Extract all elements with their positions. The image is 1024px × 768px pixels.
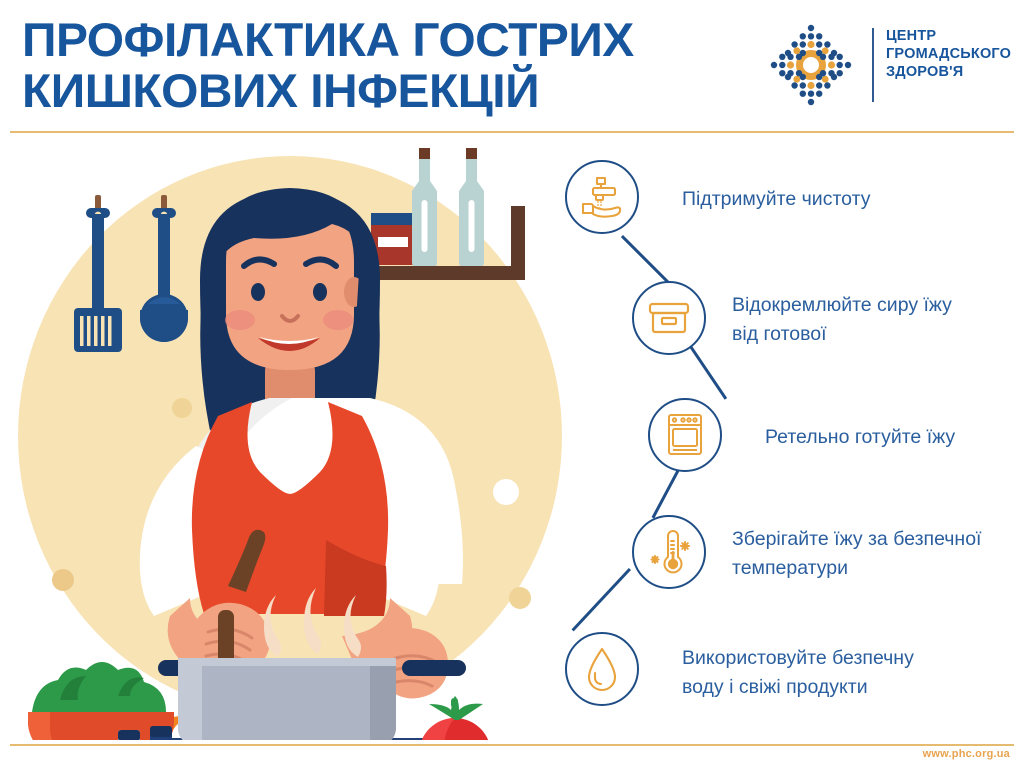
recommendation-label-4: Зберігайте їжу за безпечної температури bbox=[732, 525, 1024, 583]
header: ПРОФІЛАКТИКА ГОСТРИХ КИШКОВИХ ІНФЕКЦІЙ bbox=[0, 0, 1024, 130]
bottle bbox=[412, 148, 437, 267]
logo-divider bbox=[872, 28, 874, 102]
stove-oven-icon bbox=[648, 398, 722, 472]
tomato bbox=[419, 696, 491, 740]
thermometer-icon bbox=[632, 515, 706, 589]
radial-dot-sun-logo-icon bbox=[768, 22, 854, 108]
page-title-line-1: ПРОФІЛАКТИКА ГОСТРИХ bbox=[22, 14, 756, 65]
kitchen-illustration bbox=[0, 140, 580, 740]
connector-4-5 bbox=[572, 568, 631, 631]
organization-logo: ЦЕНТР ГРОМАДСЬКОГО ЗДОРОВ'Я bbox=[768, 22, 1008, 108]
header-divider-rule bbox=[10, 131, 1014, 133]
organization-name-line-2: ГРОМАДСЬКОГО bbox=[886, 45, 1011, 63]
recommendation-label-5: Використовуйте безпечну воду і свіжі про… bbox=[682, 644, 1024, 702]
page-title-line-2: КИШКОВИХ ІНФЕКЦІЙ bbox=[22, 65, 756, 116]
footer-website-url[interactable]: www.phc.org.ua bbox=[923, 748, 1010, 760]
cooking-pot bbox=[158, 658, 466, 740]
salt-shaker bbox=[118, 730, 140, 740]
bottle bbox=[459, 148, 484, 267]
eye-right bbox=[313, 283, 327, 301]
water-drop-icon bbox=[565, 632, 639, 706]
organization-name-line-3: ЗДОРОВ'Я bbox=[886, 63, 1011, 81]
footer-divider-rule bbox=[10, 744, 1014, 746]
handwash-tap-icon bbox=[565, 160, 639, 234]
organization-name-line-1: ЦЕНТР bbox=[886, 27, 1011, 45]
storage-box-icon bbox=[632, 281, 706, 355]
page-title: ПРОФІЛАКТИКА ГОСТРИХ КИШКОВИХ ІНФЕКЦІЙ bbox=[22, 14, 756, 116]
connector-2-3 bbox=[686, 340, 727, 399]
recommendation-label-1: Підтримуйте чистоту bbox=[682, 185, 1012, 214]
recommendation-label-2: Відокремлюйте сиру їжу від готової bbox=[732, 291, 1024, 349]
recommendation-label-3: Ретельно готуйте їжу bbox=[765, 423, 1024, 452]
recommendation-list: Підтримуйте чистоту Відокремлюйте сиру ї… bbox=[555, 150, 1024, 730]
organization-name: ЦЕНТР ГРОМАДСЬКОГО ЗДОРОВ'Я bbox=[886, 27, 1011, 81]
eye-left bbox=[251, 283, 265, 301]
infographic-page: ПРОФІЛАКТИКА ГОСТРИХ КИШКОВИХ ІНФЕКЦІЙ bbox=[0, 0, 1024, 768]
pepper-shaker bbox=[150, 726, 172, 740]
